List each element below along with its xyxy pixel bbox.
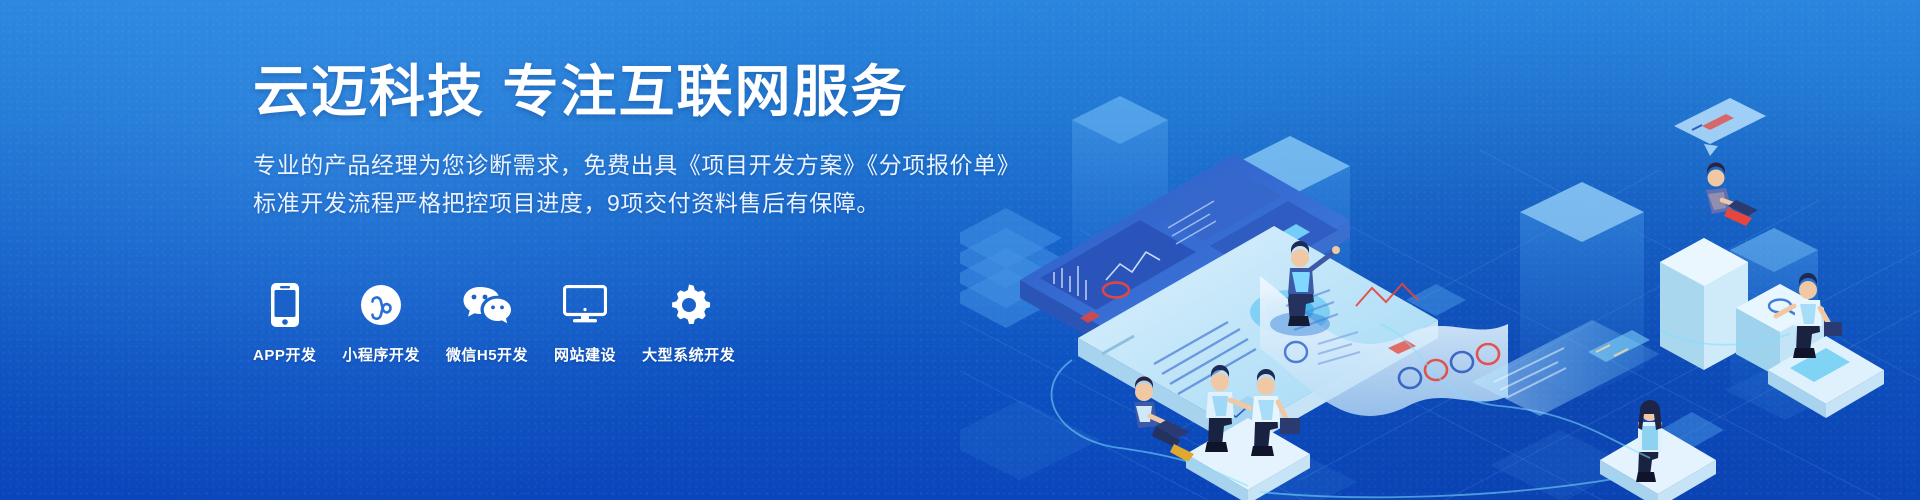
service-item-mini-program[interactable]: 小程序开发: [342, 282, 420, 365]
page-title: 云迈科技 专注互联网服务: [253, 60, 1053, 124]
subcopy-line-2: 标准开发流程严格把控项目进度，9项交付资料售后有保障。: [253, 184, 1053, 222]
mini-program-icon: [360, 282, 402, 328]
gear-icon: [668, 282, 710, 328]
service-item-wechat-h5[interactable]: 微信H5开发: [446, 282, 528, 365]
mobile-phone-icon: [270, 282, 300, 328]
service-item-app[interactable]: APP开发: [253, 282, 316, 365]
service-item-website[interactable]: 网站建设: [554, 282, 616, 365]
service-label: 微信H5开发: [446, 344, 528, 365]
service-label: 大型系统开发: [642, 344, 735, 365]
service-label: 网站建设: [554, 344, 616, 365]
desktop-monitor-icon: [563, 282, 607, 328]
service-icon-row: APP开发 小程序开发 微信: [253, 282, 735, 365]
service-label: 小程序开发: [342, 344, 420, 365]
service-label: APP开发: [253, 344, 316, 365]
service-item-large-system[interactable]: 大型系统开发: [642, 282, 735, 365]
hero-banner: 云迈科技 专注互联网服务 专业的产品经理为您诊断需求，免费出具《项目开发方案》《…: [0, 0, 1920, 500]
subcopy-line-1: 专业的产品经理为您诊断需求，免费出具《项目开发方案》《分项报价单》: [253, 146, 1053, 184]
wechat-icon: [462, 282, 512, 328]
banner-subcopy: 专业的产品经理为您诊断需求，免费出具《项目开发方案》《分项报价单》 标准开发流程…: [253, 146, 1053, 222]
banner-copy-block: 云迈科技 专注互联网服务 专业的产品经理为您诊断需求，免费出具《项目开发方案》《…: [253, 60, 1053, 222]
isometric-illustration: [960, 0, 1920, 500]
